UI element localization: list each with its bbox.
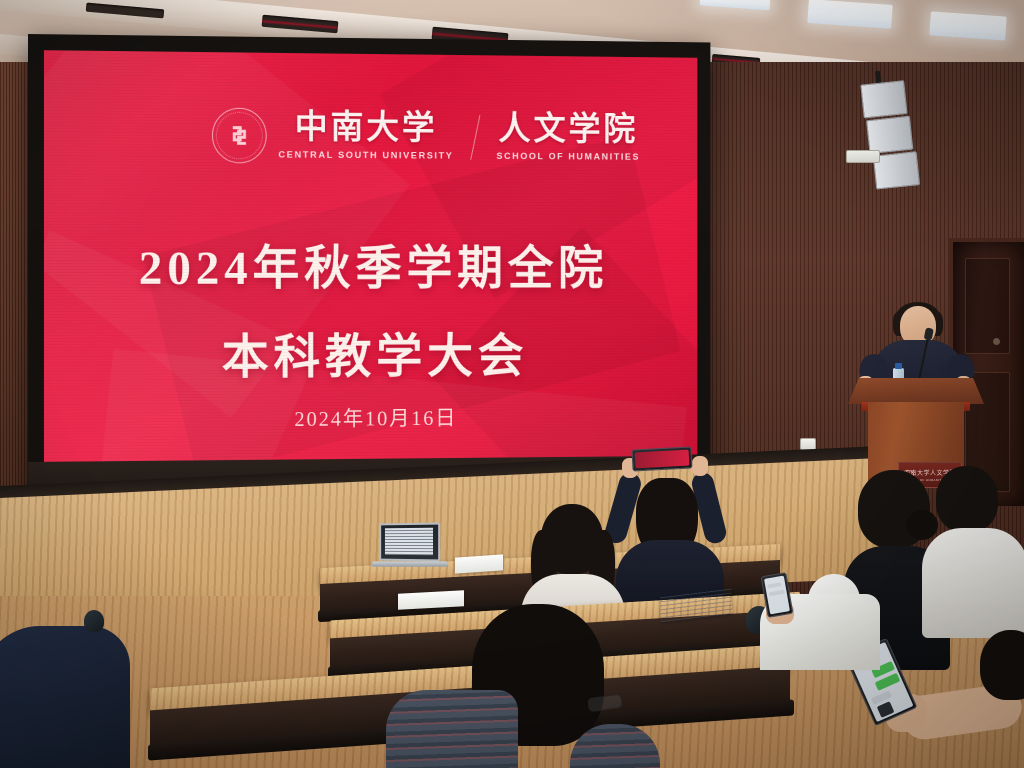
attendee-torso [386,690,518,768]
university-name-cn: 中南大学 [295,111,438,146]
slide-title: 2024年秋季学期全院 本科教学大会 [44,234,697,393]
attendee-torso [922,528,1024,638]
attendee-torso [0,626,130,768]
attendee-front-glasses [420,604,650,768]
smartphone-icon[interactable] [631,446,692,471]
phone-screen [635,450,690,469]
school-name-cn: 人文学院 [498,113,638,147]
csu-knot-emblem-icon [212,108,267,164]
attendee-head [936,466,998,532]
attendee-hand-right [692,456,708,476]
ceiling-light [700,0,771,10]
school-name-block: 人文学院 SCHOOL OF HUMANITIES [496,113,640,163]
slide-title-line1: 2024年秋季学期全院 [139,242,608,295]
lockup-divider [470,115,480,160]
lecture-hall-photo: 中南大学 CENTRAL SOUTH UNIVERSITY 人文学院 SCHOO… [0,0,1024,768]
laptop-screen [379,523,440,562]
brand-lockup: 中南大学 CENTRAL SOUTH UNIVERSITY 人文学院 SCHOO… [212,108,640,166]
wall-plate-icon [846,150,880,163]
school-name-en: SCHOOL OF HUMANITIES [496,151,640,163]
ceiling-light [929,11,1006,40]
ceiling-light [807,0,892,29]
slide-date: 2024年10月16日 [44,401,697,435]
attendee-left-back [0,600,140,768]
paper-document-icon [455,554,503,573]
led-screen-surface: 中南大学 CENTRAL SOUTH UNIVERSITY 人文学院 SCHOO… [44,50,697,462]
university-name-en: CENTRAL SOUTH UNIVERSITY [278,150,453,162]
speaker-cell [860,80,907,118]
door-knob-icon[interactable] [993,338,1000,345]
laptop-keyboard[interactable] [371,561,448,566]
attendee-head [980,630,1024,700]
university-name-block: 中南大学 CENTRAL SOUTH UNIVERSITY [278,111,453,161]
emblem-knot-glyph [226,122,253,150]
attendee-far-right [930,466,1024,636]
podium-top [848,378,984,404]
phone-screen [764,576,790,615]
bottle-cap [895,363,902,369]
laptop-document-content [385,528,433,556]
seat-hinge-icon [84,610,104,632]
attendee-left-white [760,576,880,666]
led-screen: 中南大学 CENTRAL SOUTH UNIVERSITY 人文学院 SCHOO… [28,34,710,522]
slide-title-line2: 本科教学大会 [44,322,697,393]
speaker-cell [866,116,913,154]
laptop-icon[interactable] [372,523,444,575]
